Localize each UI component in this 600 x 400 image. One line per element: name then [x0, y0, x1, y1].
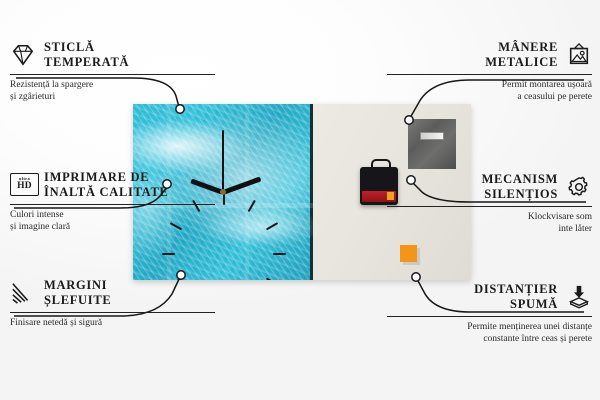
callout-description: Finisare netedă și sigură: [10, 317, 215, 330]
clock-second-hand: [222, 130, 224, 192]
callout-title: MARGINI ȘLEFUITE: [44, 278, 111, 308]
clock-tick: [266, 278, 278, 280]
clock-tick: [273, 253, 286, 255]
callout-description: Permit montarea ușoară a ceasului pe per…: [387, 79, 592, 104]
foam-spacer-icon: [566, 285, 592, 309]
callout-hd-print: ultra HD IMPRIMARE DE ÎNALTĂ CALITATE Cu…: [10, 170, 215, 234]
clock-tick: [248, 200, 256, 212]
beveled-edge-icon: [10, 281, 36, 305]
callout-rule: [387, 74, 592, 75]
gear-icon: [566, 175, 592, 199]
clock-tick: [266, 222, 278, 230]
diamond-icon: [10, 43, 36, 67]
callout-description: Culori intense și imagine clară: [10, 209, 215, 234]
infographic-canvas: STICLĂ TEMPERATĂ Rezistență la spargere …: [0, 0, 600, 400]
callout-silent-mechanism: MECANISM SILENȚIOS Klockvisare som inte …: [387, 172, 592, 236]
hanger-slot: [420, 132, 444, 140]
clock-hour-hand: [222, 176, 261, 194]
mechanism-bail: [371, 159, 391, 171]
callout-title: MÂNERE METALICE: [485, 40, 558, 70]
picture-frame-icon: [566, 43, 592, 67]
callout-rule: [10, 204, 215, 205]
callout-rule: [387, 316, 592, 317]
foam-spacer-block: [400, 245, 417, 262]
callout-title: IMPRIMARE DE ÎNALTĂ CALITATE: [44, 170, 169, 200]
metal-hanger-plate: [408, 119, 456, 169]
callout-description: Rezistență la spargere și zgârieturi: [10, 79, 215, 104]
callout-rule: [387, 206, 592, 207]
callout-description: Permite menținerea unei distanțe constan…: [387, 321, 592, 346]
callout-rule: [10, 74, 215, 75]
ultra-hd-icon: ultra HD: [10, 173, 36, 197]
callout-description: Klockvisare som inte låter: [387, 211, 592, 236]
callout-tempered-glass: STICLĂ TEMPERATĂ Rezistență la spargere …: [10, 40, 215, 104]
callout-metal-handles: MÂNERE METALICE Permit montarea ușoară a…: [387, 40, 592, 104]
callout-rule: [10, 312, 215, 313]
clock-tick: [162, 253, 175, 255]
callout-title: STICLĂ TEMPERATĂ: [44, 40, 129, 70]
clock-center-hub: [220, 189, 226, 195]
callout-title: MECANISM SILENȚIOS: [482, 172, 558, 202]
callout-polished-edges: MARGINI ȘLEFUITE Finisare netedă și sigu…: [10, 278, 215, 329]
callout-title: DISTANȚIER SPUMĂ: [474, 282, 558, 312]
callout-foam-spacer: DISTANȚIER SPUMĂ Permite menținerea unei…: [387, 282, 592, 346]
